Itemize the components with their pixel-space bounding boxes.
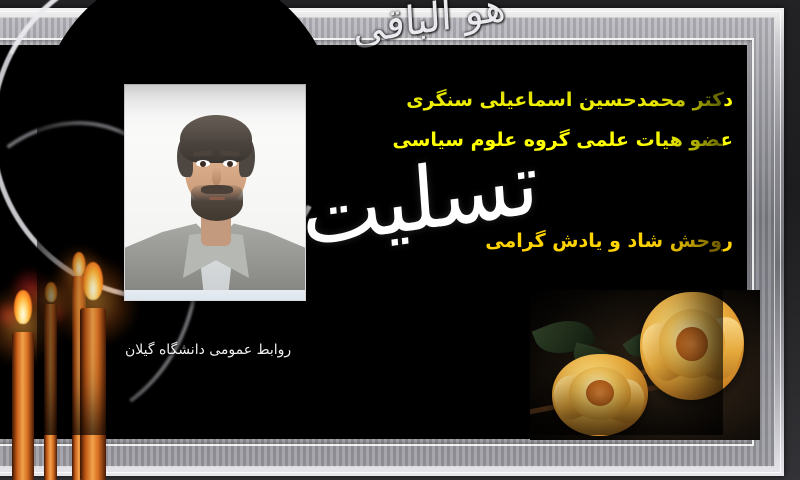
portrait-nose [212,167,221,185]
prayer-line: روحش شاد و یادش گرامی [485,230,733,252]
candle-body [80,308,106,480]
candle-far-small [44,290,57,480]
credit-line: روابط عمومی دانشگاه گیلان [125,342,291,358]
headline-line-title: عضو هیات علمی گروه علوم سیاسی [403,120,733,160]
candle-flame [83,262,103,300]
memorial-poster: تسلیت هو الباقی دکتر محمدحسین اسماعیلی س… [0,0,800,480]
portrait-photo-base [125,290,305,300]
portrait-moustache [201,185,233,194]
portrait-photo [125,85,305,300]
candle-front-right [80,282,106,480]
portrait-mouth [209,197,225,200]
portrait-pupil-left [200,161,206,167]
candle-flame [45,282,57,302]
portrait-hair [180,115,252,163]
candle-flame [14,290,32,324]
portrait-pupil-right [227,161,233,167]
candle-body [44,304,57,480]
headline-block: دکتر محمدحسین اسماعیلی سنگری عضو هیات عل… [403,80,733,160]
headline-line-name: دکتر محمدحسین اسماعیلی سنگری [403,80,733,120]
candle-body [12,332,34,480]
candle-front-left [12,308,34,480]
